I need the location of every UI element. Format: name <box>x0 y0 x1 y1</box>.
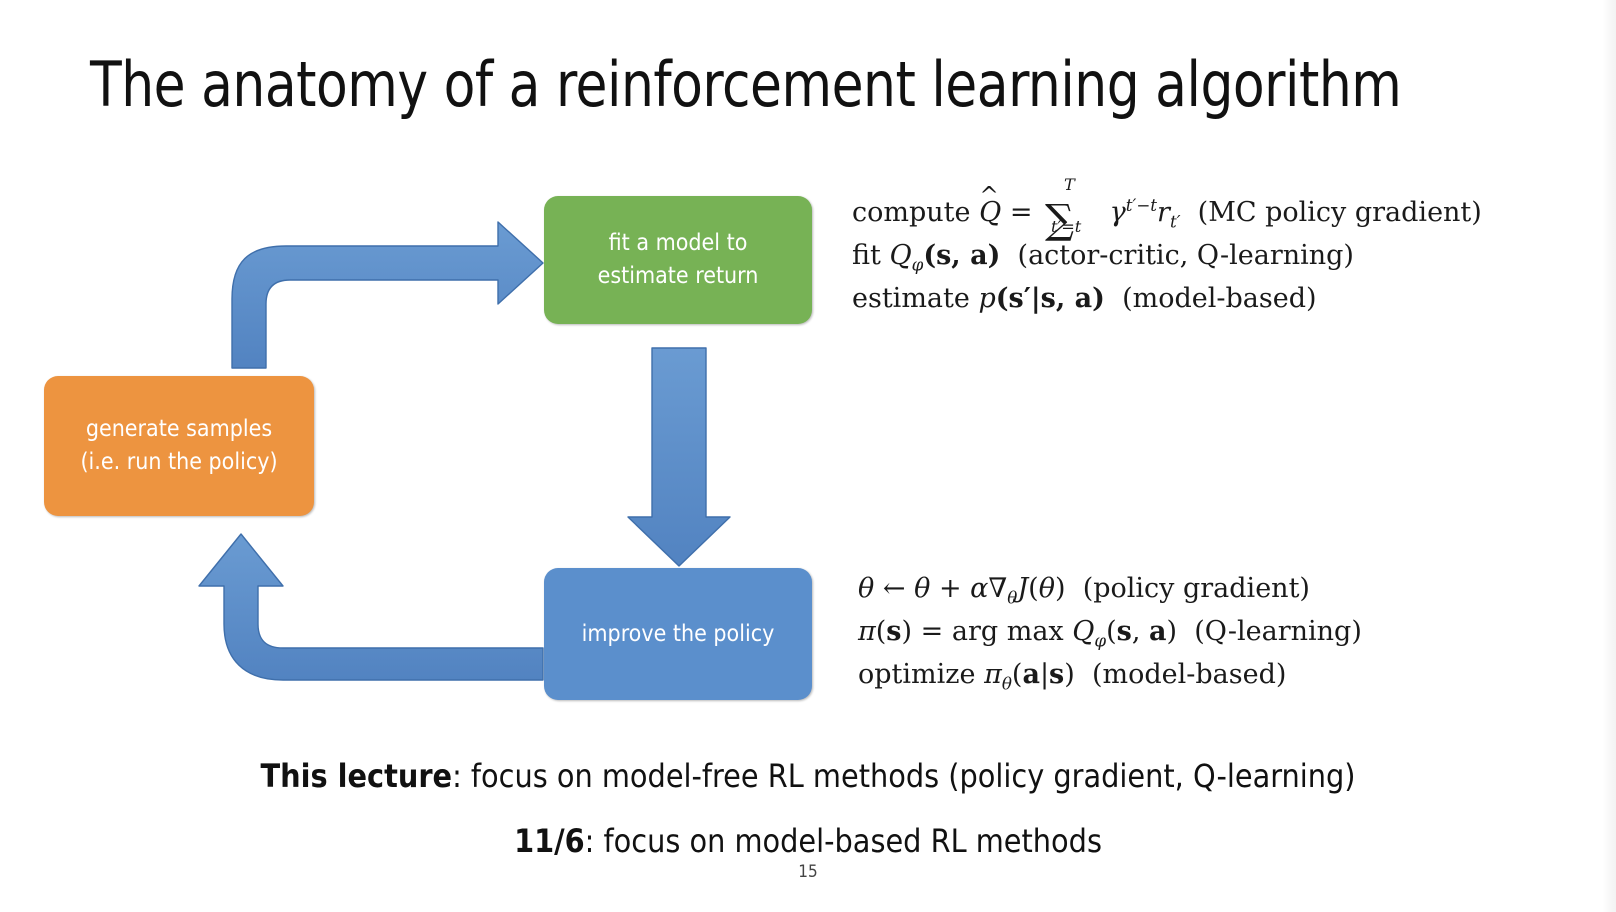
argmax-operator: arg max <box>952 616 1064 647</box>
flow-box-fit-a-model-line-2: estimate return <box>598 263 759 289</box>
pi-args-open: ( <box>876 616 887 647</box>
reward-symbol: r <box>1157 197 1170 228</box>
q-hat-symbol: ^Q <box>979 192 1001 235</box>
objective-symbol: J <box>1017 573 1028 604</box>
q-args-open: ( <box>1106 616 1117 647</box>
policy-symbol: π <box>984 659 1002 690</box>
policy-subscript: θ <box>1002 673 1012 693</box>
pi-args-close: ) <box>902 616 913 647</box>
plus-sign: + <box>939 573 962 604</box>
slide-number: 15 <box>0 862 1616 882</box>
state-symbol: s <box>886 616 901 647</box>
objective-args-close: ) <box>1055 573 1066 604</box>
alpha-symbol: α <box>970 573 988 604</box>
summation-operator: ∑ T t′=t <box>1041 194 1101 221</box>
objective-args: ( <box>1028 573 1039 604</box>
equation-bottom-line-3-prefix: optimize <box>858 659 975 690</box>
action-symbol: a <box>1149 616 1167 647</box>
equation-bottom-line-1-note: (policy gradient) <box>1083 573 1310 604</box>
q-function-subscript: φ <box>1094 630 1106 650</box>
nabla-icon: ∇ <box>988 573 1007 604</box>
flow-box-generate-samples-label: generate samples (i.e. run the policy) <box>70 413 287 478</box>
equation-top-line-2-subscript: φ <box>912 254 924 274</box>
equation-top-line-3-symbol: p <box>978 283 995 314</box>
equation-top-line-2-prefix: fit <box>852 240 881 271</box>
arg-comma: , <box>1132 616 1149 647</box>
equation-top-line-1-note: (MC policy gradient) <box>1198 197 1482 228</box>
equals-sign-2: = <box>921 616 944 647</box>
state-symbol-2: s <box>1117 616 1132 647</box>
policy-args-open: ( <box>1012 659 1023 690</box>
flow-box-improve-the-policy-label: improve the policy <box>572 618 785 651</box>
equation-bottom-line-2-note: (Q-learning) <box>1194 616 1362 647</box>
left-arrow-icon: ← <box>883 573 906 604</box>
state-symbol-3: s <box>1049 659 1064 690</box>
arrow-fit-to-improve <box>628 348 730 566</box>
hat-accent: ^ <box>979 178 999 214</box>
reward-subscript: t′ <box>1170 211 1181 231</box>
nabla-subscript: θ <box>1007 587 1017 607</box>
flow-box-fit-a-model-label: fit a model to estimate return <box>588 227 769 292</box>
equation-bottom-line-1: θ ← θ + α∇θJ(θ) (policy gradient) <box>858 568 1362 611</box>
conditional-bar: | <box>1040 659 1049 690</box>
sum-upper-limit: T <box>1064 172 1075 198</box>
theta-symbol-2: θ <box>914 573 930 604</box>
policy-args-close: ) <box>1064 659 1075 690</box>
slide-canvas: The anatomy of a reinforcement learning … <box>0 0 1616 912</box>
footer-line-next-lecture: 11/6: focus on model-based RL methods <box>0 822 1616 860</box>
flow-box-improve-the-policy-line-1: improve the policy <box>582 621 775 647</box>
page-title: The anatomy of a reinforcement learning … <box>90 48 1439 121</box>
flow-box-generate-samples-line-1: generate samples <box>86 416 272 442</box>
flow-box-generate-samples[interactable]: generate samples (i.e. run the policy) <box>44 376 314 516</box>
footer-line-2-rest: : focus on model-based RL methods <box>585 822 1102 860</box>
flow-box-generate-samples-line-2: (i.e. run the policy) <box>80 449 277 475</box>
equation-top-line-3-prefix: estimate <box>852 283 970 314</box>
arrow-improve-to-generate <box>199 534 543 680</box>
equation-top-line-1-prefix: compute <box>852 197 970 228</box>
equation-bottom-line-3: optimize πθ(a|s) (model-based) <box>858 654 1362 697</box>
equation-top-line-2: fit Qφ(s, a) (actor-critic, Q-learning) <box>852 235 1482 278</box>
action-symbol-2: a <box>1022 659 1040 690</box>
footer-line-this-lecture: This lecture: focus on model-free RL met… <box>0 757 1616 795</box>
flow-box-fit-a-model[interactable]: fit a model to estimate return <box>544 196 812 324</box>
equation-block-bottom: θ ← θ + α∇θJ(θ) (policy gradient) π(s) =… <box>858 568 1362 696</box>
equation-top-line-1: compute ^Q = ∑ T t′=t γt′−trt′ (MC polic… <box>852 192 1482 235</box>
sum-lower-limit: t′=t <box>1051 214 1081 240</box>
equation-top-line-3: estimate p(s′|s, a) (model-based) <box>852 278 1482 321</box>
equals-sign: = <box>1010 197 1033 228</box>
arrow-generate-to-fit <box>232 222 543 368</box>
equation-bottom-line-3-note: (model-based) <box>1092 659 1286 690</box>
equation-top-line-3-args: (s′|s, a) <box>996 283 1105 314</box>
equation-top-line-3-note: (model-based) <box>1122 283 1316 314</box>
q-function-symbol: Q <box>1072 616 1094 647</box>
q-args-close: ) <box>1167 616 1178 647</box>
footer-line-1-bold: This lecture <box>260 757 452 795</box>
flow-box-improve-the-policy[interactable]: improve the policy <box>544 568 812 700</box>
pi-symbol: π <box>858 616 876 647</box>
footer-line-2-bold: 11/6 <box>514 822 585 860</box>
gamma-symbol: γ <box>1110 197 1126 228</box>
gamma-exponent: t′−t <box>1126 195 1157 215</box>
equation-top-line-2-symbol: Q <box>889 240 911 271</box>
theta-symbol: θ <box>858 573 874 604</box>
equation-top-line-2-args: (s, a) <box>923 240 1000 271</box>
equation-bottom-line-2: π(s) = arg max Qφ(s, a) (Q-learning) <box>858 611 1362 654</box>
equation-block-top: compute ^Q = ∑ T t′=t γt′−trt′ (MC polic… <box>852 192 1482 320</box>
flow-box-fit-a-model-line-1: fit a model to <box>609 230 748 256</box>
theta-arg: θ <box>1039 573 1055 604</box>
footer-line-1-rest: : focus on model-free RL methods (policy… <box>452 757 1355 795</box>
